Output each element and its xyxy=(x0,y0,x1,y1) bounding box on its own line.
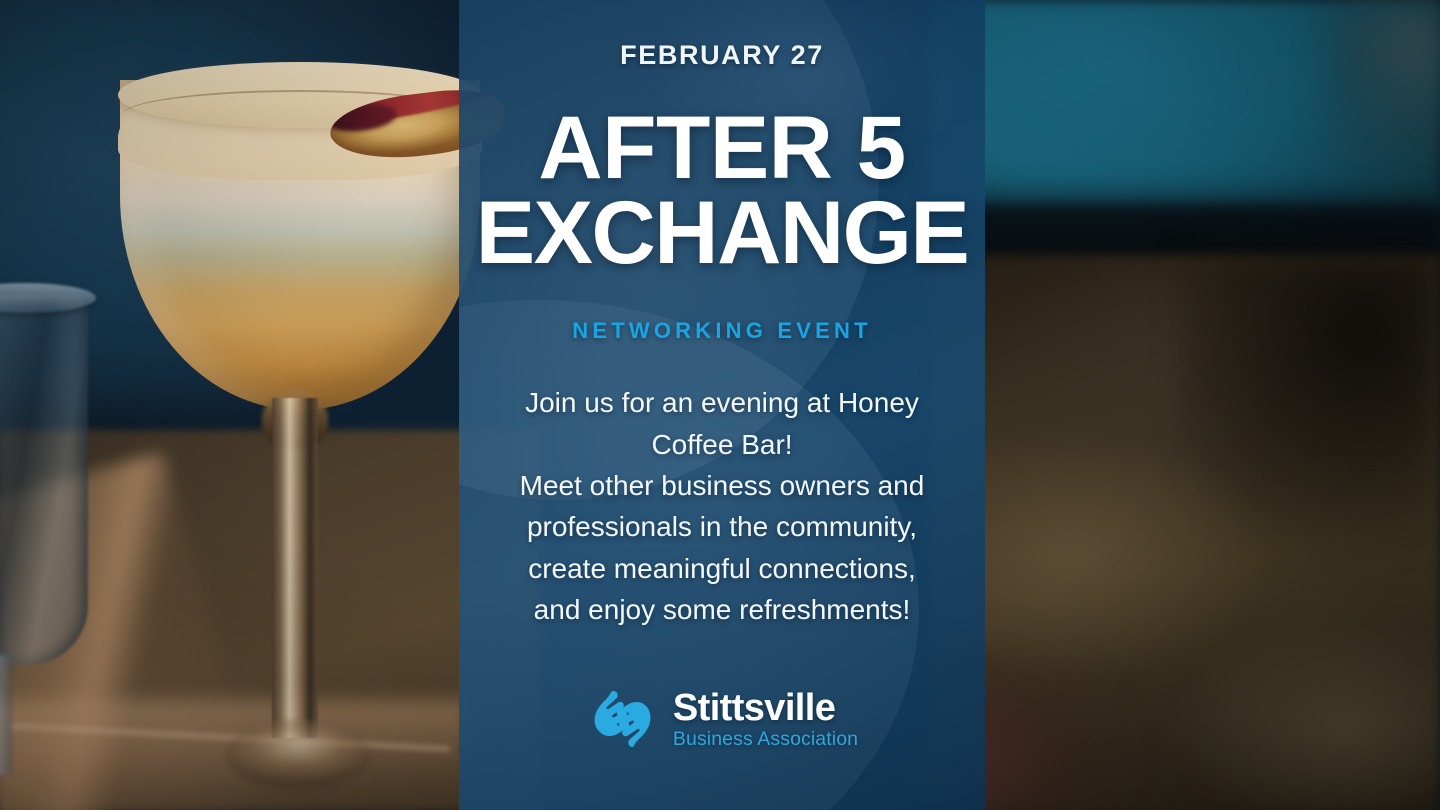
description-line: Coffee Bar! xyxy=(520,424,925,465)
event-poster: FEBRUARY 27 AFTER 5 EXCHANGE NETWORKING … xyxy=(0,0,1440,810)
two-hands-icon xyxy=(586,688,660,750)
event-subtitle: NETWORKING EVENT xyxy=(572,318,871,344)
event-date: FEBRUARY 27 xyxy=(620,40,824,71)
description-line: and enjoy some refreshments! xyxy=(520,589,925,630)
description-line: professionals in the community, xyxy=(520,506,925,547)
description-line: create meaningful connections, xyxy=(520,548,925,589)
description-line: Meet other business owners and xyxy=(520,465,925,506)
logo-wordmark: Stittsville Business Association xyxy=(673,689,858,750)
page-title: AFTER 5 EXCHANGE xyxy=(476,105,968,274)
event-description: Join us for an evening at Honey Coffee B… xyxy=(520,382,925,631)
logo-subtitle: Business Association xyxy=(673,730,858,750)
content-panel: FEBRUARY 27 AFTER 5 EXCHANGE NETWORKING … xyxy=(459,0,985,810)
title-line-2: EXCHANGE xyxy=(476,190,968,275)
organization-logo: Stittsville Business Association xyxy=(586,688,858,750)
logo-name: Stittsville xyxy=(673,689,858,727)
description-line: Join us for an evening at Honey xyxy=(520,382,925,423)
